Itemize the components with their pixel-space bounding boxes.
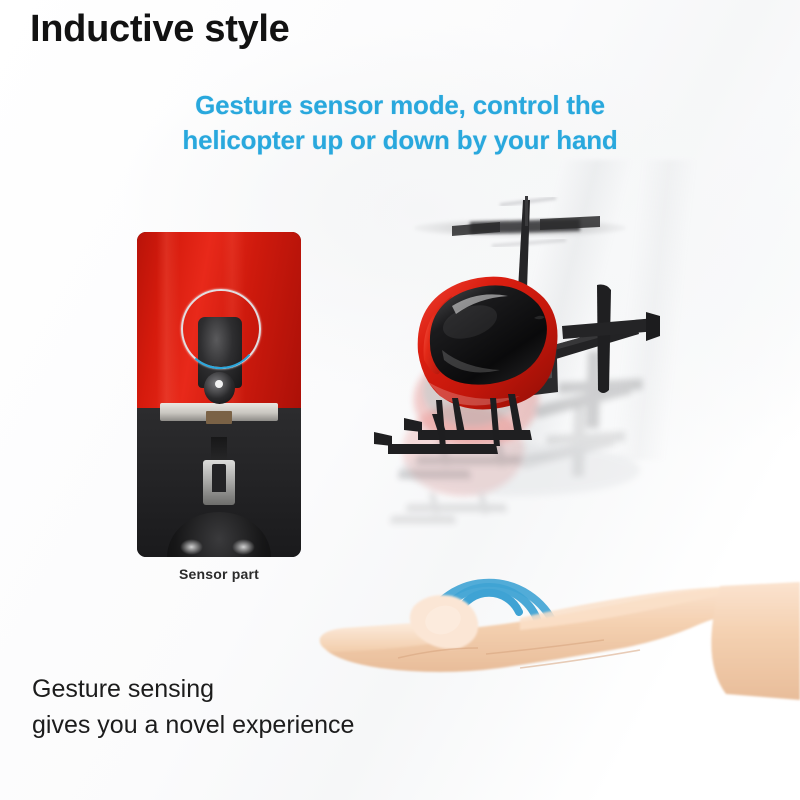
subtitle-line-2: helicopter up or down by your hand <box>0 123 800 158</box>
subtitle-text: Gesture sensor mode, control the helicop… <box>0 88 800 157</box>
bottom-caption-line-2: gives you a novel experience <box>32 708 354 744</box>
sensor-part-photo <box>137 232 301 557</box>
bottom-caption: Gesture sensing gives you a novel experi… <box>32 672 354 743</box>
product-feature-image: Inductive style Gesture sensor mode, con… <box>0 0 800 800</box>
sensor-base-gloss-left <box>180 539 203 555</box>
subtitle-line-1: Gesture sensor mode, control the <box>195 90 605 120</box>
sensor-contact-notch <box>206 411 232 424</box>
sensor-clip <box>203 460 236 506</box>
sensor-part-caption: Sensor part <box>137 566 301 582</box>
bottom-caption-line-1: Gesture sensing <box>32 672 354 708</box>
page-title: Inductive style <box>30 8 289 51</box>
